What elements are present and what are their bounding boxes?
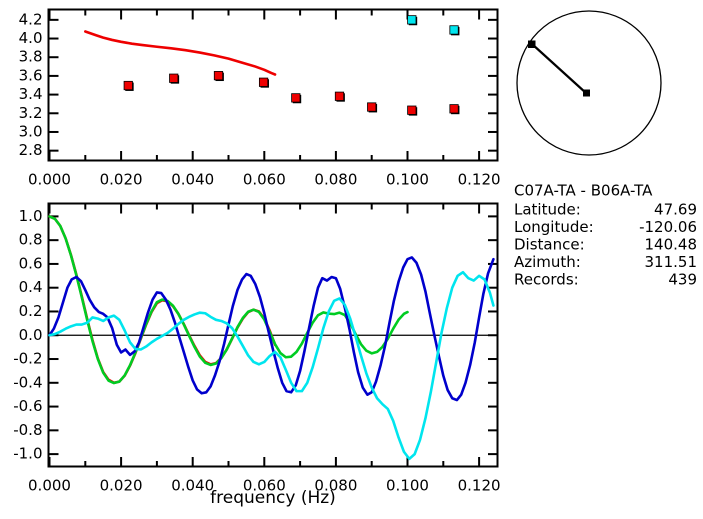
info-row-label: Latitude:	[514, 201, 581, 219]
data-marker	[450, 105, 458, 113]
y-tick-label: 3.6	[19, 66, 43, 84]
data-marker	[408, 106, 416, 114]
figure-root: 0.0000.0200.0400.0600.0800.1000.120 2.83…	[0, 0, 703, 519]
y-tick-label: 3.8	[19, 48, 43, 66]
x-tick-label: 0.120	[458, 477, 501, 495]
data-marker	[124, 81, 132, 89]
data-marker	[259, 78, 267, 86]
dispersion-plot-yticklabels: 2.83.03.23.43.63.84.04.2	[19, 10, 43, 159]
seismic-figure: 0.0000.0200.0400.0600.0800.1000.120 2.83…	[0, 0, 703, 519]
y-tick-label: -0.6	[13, 397, 42, 415]
y-tick-label: 3.0	[19, 122, 43, 140]
data-marker	[214, 71, 222, 79]
cross-correlation-plot-yticklabels: -1.0-0.8-0.6-0.4-0.20.00.20.40.60.81.0	[13, 207, 42, 463]
y-tick-label: -0.4	[13, 373, 42, 391]
x-tick-label: 0.000	[28, 171, 71, 189]
info-panel-rows: Latitude:47.69Longitude:-120.06Distance:…	[514, 201, 697, 289]
y-tick-label: 1.0	[19, 207, 43, 225]
x-tick-label: 0.040	[171, 477, 214, 495]
y-tick-label: 0.6	[19, 254, 43, 272]
cyan-measurements	[408, 16, 460, 36]
y-tick-label: 3.4	[19, 85, 43, 103]
x-tick-label: 0.120	[458, 171, 501, 189]
center-station-marker	[583, 90, 590, 97]
x-axis-label: frequency (Hz)	[210, 488, 336, 508]
info-row-value: -120.06	[639, 218, 697, 236]
info-row-label: Longitude:	[514, 218, 594, 236]
y-tick-label: 0.2	[19, 302, 43, 320]
remote-station-marker	[528, 41, 536, 49]
cross-correlation-plot: 0.0000.0200.0400.0600.0800.1000.120 -1.0…	[13, 204, 500, 509]
dispersion-plot-series	[85, 16, 459, 116]
blue-curve	[50, 257, 494, 400]
x-tick-label: 0.100	[386, 171, 429, 189]
azimuth-circle-inset	[517, 11, 661, 155]
dispersion-plot-xticklabels: 0.0000.0200.0400.0600.0800.1000.120	[28, 171, 501, 189]
info-row-value: 140.48	[645, 236, 698, 254]
info-row-label: Azimuth:	[514, 253, 581, 271]
x-tick-label: 0.040	[171, 171, 214, 189]
x-tick-label: 0.080	[314, 171, 357, 189]
y-tick-label: 4.0	[19, 29, 43, 47]
data-marker	[335, 92, 343, 100]
azimuth-circle-outline	[517, 11, 661, 155]
y-tick-label: -1.0	[13, 445, 42, 463]
data-marker	[368, 103, 376, 111]
y-tick-label: 0.0	[19, 326, 43, 344]
dispersion-plot-frame	[49, 10, 498, 161]
x-tick-label: 0.060	[243, 171, 286, 189]
cross-correlation-plot-series	[50, 216, 494, 458]
info-panel: C07A-TA - B06A-TA Latitude:47.69Longitud…	[514, 182, 697, 289]
data-marker	[170, 74, 178, 82]
x-tick-label: 0.020	[100, 171, 143, 189]
station-pair-title: C07A-TA - B06A-TA	[514, 182, 653, 200]
y-tick-label: 2.8	[19, 141, 43, 159]
y-tick-label: 3.2	[19, 104, 43, 122]
info-row-value: 47.69	[654, 201, 697, 219]
info-row-label: Records:	[514, 271, 579, 289]
y-tick-label: 0.4	[19, 278, 43, 296]
y-tick-label: -0.2	[13, 350, 42, 368]
dispersion-plot: 0.0000.0200.0400.0600.0800.1000.120 2.83…	[19, 10, 501, 189]
y-tick-label: 0.8	[19, 231, 43, 249]
red-measurements	[124, 71, 459, 115]
x-tick-label: 0.000	[28, 477, 71, 495]
info-row-value: 311.51	[645, 253, 698, 271]
data-marker	[408, 16, 416, 24]
info-row-value: 439	[668, 271, 697, 289]
station-ray-line	[532, 44, 586, 93]
x-tick-label: 0.020	[100, 477, 143, 495]
data-marker	[450, 26, 458, 34]
dispersion-plot-ticks	[50, 11, 498, 161]
y-tick-label: 4.2	[19, 10, 43, 28]
reference-curve	[85, 32, 275, 75]
y-tick-label: -0.8	[13, 421, 42, 439]
info-row-label: Distance:	[514, 236, 585, 254]
x-tick-label: 0.100	[386, 477, 429, 495]
data-marker	[292, 94, 300, 102]
